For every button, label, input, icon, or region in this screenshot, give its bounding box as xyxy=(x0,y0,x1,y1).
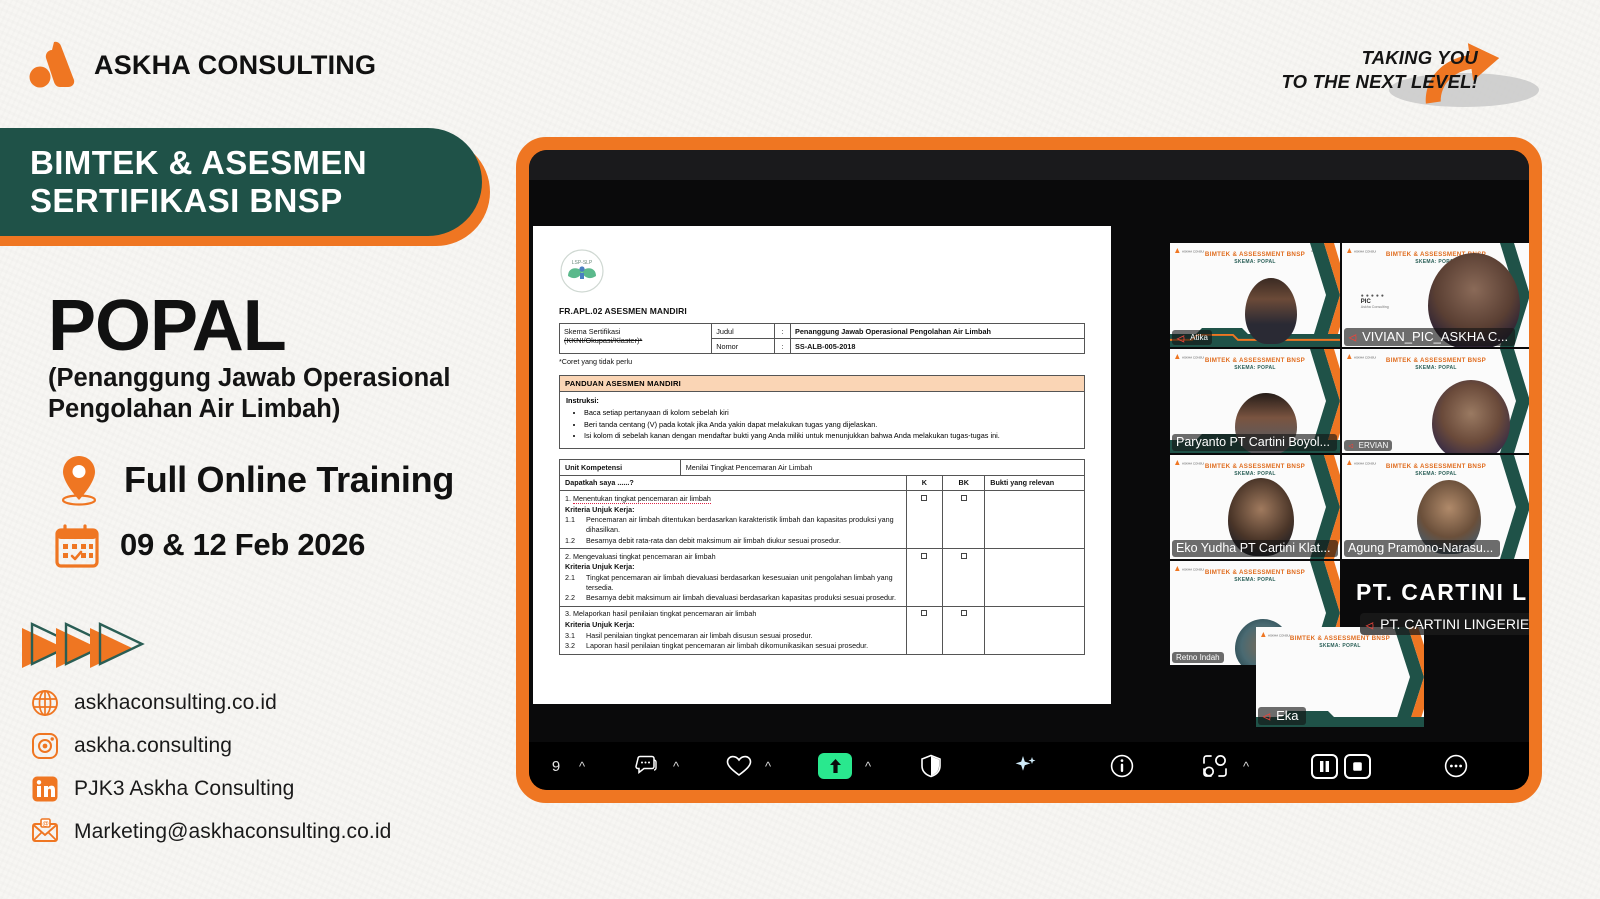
triple-play-arrows-icon xyxy=(18,620,148,678)
slide-chevron-decor xyxy=(1500,455,1529,559)
participant-name-label: Retno Indah xyxy=(1172,652,1224,663)
row-colon: : xyxy=(775,339,791,354)
item-title: Mengevaluasi tingkat pencemaran air limb… xyxy=(573,552,716,561)
panduan-body: Instruksi: Baca setiap pertanyaan di kol… xyxy=(560,392,1084,448)
globe-icon xyxy=(30,688,60,718)
skema-label-line-2: (KKNI/Okupasi/Klaster)* xyxy=(564,336,707,345)
participant-name-label: ⏿ Atika xyxy=(1172,330,1212,345)
participant-tile-ervian[interactable]: ASKHA CONSULTING BIMTEK & ASSESSMENT BNS… xyxy=(1342,349,1529,453)
kuk-label: Kriteria Unjuk Kerja: xyxy=(565,620,901,630)
participant-tile-vivian[interactable]: ASKHA CONSULTING BIMTEK & ASSESSMENT BNS… xyxy=(1342,243,1529,347)
zoom-stage: LSP-SLP FR.APL.02 ASESMEN MANDIRI Skema … xyxy=(529,180,1529,742)
instruksi-label: Instruksi: xyxy=(566,396,1078,406)
brand-header: ASKHA CONSULTING xyxy=(24,36,376,94)
contact-list: askhaconsulting.co.id askha.consulting P… xyxy=(30,686,391,849)
virtual-background: ASKHA CONSULTING BIMTEK & ASSESSMENT BNS… xyxy=(1342,349,1529,453)
checkbox-cell-k[interactable] xyxy=(906,549,943,607)
row-value: Penanggung Jawab Operasional Pengolahan … xyxy=(791,324,1085,339)
criteria-text: Besarnya debit rata-rata dan debit maksi… xyxy=(586,536,841,546)
muted-mic-icon: ⏿ xyxy=(1348,330,1357,343)
criteria-num: 3.1 xyxy=(565,631,581,641)
criteria-text: Pencemaran air limbah ditentukan berdasa… xyxy=(586,515,901,534)
checkbox-cell-bk[interactable] xyxy=(943,606,985,654)
share-screen-icon[interactable] xyxy=(815,742,855,790)
kuk-label: Kriteria Unjuk Kerja: xyxy=(565,562,901,572)
criteria-num: 1.2 xyxy=(565,536,581,546)
participant-tile-agung-pramono[interactable]: ASKHA CONSULTING BIMTEK & ASSESSMENT BNS… xyxy=(1342,455,1529,559)
table-header-row: Dapatkah saya ......? K BK Bukti yang re… xyxy=(560,475,1085,491)
checkbox-bk[interactable] xyxy=(961,553,967,559)
criteria-item: 2.1 Tingkat pencemaran air limbah dieval… xyxy=(565,573,901,592)
muted-mic-icon: ⏿ xyxy=(1348,442,1354,450)
instruksi-list: Baca setiap pertanyaan di kolom sebelah … xyxy=(584,408,1078,441)
meta-label-location: Full Online Training xyxy=(124,459,454,501)
checkbox-k[interactable] xyxy=(921,553,927,559)
breakout-options-chevron-icon[interactable]: ^ xyxy=(1233,742,1259,790)
evidence-cell[interactable] xyxy=(985,549,1085,607)
participant-name-label: ⏿ VIVIAN_PIC_ASKHA C... xyxy=(1344,328,1515,346)
meeting-info-icon[interactable] xyxy=(1105,742,1139,790)
table-row: 1. Menentukan tingkat pencemaran air lim… xyxy=(560,491,1085,549)
meta-label-date: 09 & 12 Feb 2026 xyxy=(120,527,365,563)
chat-options-chevron-icon[interactable]: ^ xyxy=(663,742,689,790)
checkbox-k[interactable] xyxy=(921,495,927,501)
checkbox-cell-bk[interactable] xyxy=(943,549,985,607)
criteria-item: 3.2 Laporan hasil penilaian tingkat penc… xyxy=(565,641,901,651)
item-title: Melaporkan hasil penilaian tingkat pence… xyxy=(573,609,756,618)
linkedin-icon xyxy=(30,774,60,804)
criteria-text: Laporan hasil penilaian tingkat pencemar… xyxy=(586,641,868,651)
criteria-num: 1.1 xyxy=(565,515,581,534)
column-header-bk: BK xyxy=(943,475,985,491)
participant-video xyxy=(1432,380,1510,453)
item-title: Menentukan tingkat pencemaran air limbah xyxy=(573,494,711,504)
shared-document: LSP-SLP FR.APL.02 ASESMEN MANDIRI Skema … xyxy=(533,226,1111,704)
chat-icon[interactable] xyxy=(631,742,663,790)
criteria-item: 1.2 Besarnya debit rata-rata dan debit m… xyxy=(565,536,901,546)
row-label: Nomor xyxy=(712,339,775,354)
participant-tile-eka[interactable]: ASKHA CONSULTING BIMTEK & ASSESSMENT BNS… xyxy=(1256,627,1424,727)
table-row: Unit Kompetensi Menilai Tingkat Pencemar… xyxy=(560,460,1085,476)
list-item: Baca setiap pertanyaan di kolom sebelah … xyxy=(584,408,1078,418)
participant-name-label: ⏿ ERVIAN xyxy=(1344,440,1392,451)
contact-item-website[interactable]: askhaconsulting.co.id xyxy=(30,686,391,720)
page-subtitle-line-1: (Penanggung Jawab Operasional xyxy=(48,363,450,394)
checkbox-bk[interactable] xyxy=(961,495,967,501)
checkbox-k[interactable] xyxy=(921,610,927,616)
competency-cell: 1. Menentukan tingkat pencemaran air lim… xyxy=(560,491,907,549)
contact-label-email: Marketing@askhaconsulting.co.id xyxy=(74,820,391,844)
participant-name-label: Eko Yudha PT Cartini Klat... xyxy=(1172,540,1338,557)
zoom-titlebar xyxy=(529,150,1529,180)
brand-name: ASKHA CONSULTING xyxy=(94,50,376,81)
svg-text:@: @ xyxy=(42,820,49,827)
tagline-text: TAKING YOU TO THE NEXT LEVEL! xyxy=(1282,46,1479,95)
question-header: Dapatkah saya ......? xyxy=(560,475,907,491)
unit-kompetensi-table: Unit Kompetensi Menilai Tingkat Pencemar… xyxy=(559,459,1085,655)
column-header-k: K xyxy=(906,475,943,491)
muted-mic-icon: ⏿ xyxy=(1365,618,1374,631)
panduan-block: PANDUAN ASESMEN MANDIRI Instruksi: Baca … xyxy=(559,375,1085,449)
zoom-window: LSP-SLP FR.APL.02 ASESMEN MANDIRI Skema … xyxy=(529,150,1529,790)
reactions-options-chevron-icon[interactable]: ^ xyxy=(755,742,781,790)
contact-item-linkedin[interactable]: PJK3 Askha Consulting xyxy=(30,772,391,806)
table-row: Skema Sertifikasi (KKNI/Okupasi/Klaster)… xyxy=(560,324,1085,339)
row-colon: : xyxy=(775,324,791,339)
page-subtitle: (Penanggung Jawab Operasional Pengolahan… xyxy=(48,363,450,425)
meta-row-location: Full Online Training xyxy=(52,452,454,508)
more-options-icon[interactable] xyxy=(1439,742,1473,790)
checkbox-bk[interactable] xyxy=(961,610,967,616)
table-row: 3. Melaporkan hasil penilaian tingkat pe… xyxy=(560,606,1085,654)
skema-label-cell: Skema Sertifikasi (KKNI/Okupasi/Klaster)… xyxy=(560,324,712,354)
svg-text:LSP-SLP: LSP-SLP xyxy=(572,260,593,266)
contact-item-email[interactable]: @ Marketing@askhaconsulting.co.id xyxy=(30,815,391,849)
criteria-num: 2.1 xyxy=(565,573,581,592)
evidence-cell[interactable] xyxy=(985,491,1085,549)
criteria-item: 1.1 Pencemaran air limbah ditentukan ber… xyxy=(565,515,901,534)
share-options-chevron-icon[interactable]: ^ xyxy=(855,742,881,790)
page-subtitle-line-2: Pengolahan Air Limbah) xyxy=(48,394,450,425)
participant-tile-atika[interactable]: ASKHA CONSULTING ASKHA BIMTEK & ASSESSME… xyxy=(1170,243,1340,347)
banner-green-panel: BIMTEK & ASESMEN SERTIFIKASI BNSP xyxy=(0,128,482,236)
instagram-icon xyxy=(30,731,60,761)
list-item: Isi kolom di sebelah kanan dengan mendaf… xyxy=(584,431,1078,441)
email-icon: @ xyxy=(30,817,60,847)
competency-cell: 2. Mengevaluasi tingkat pencemaran air l… xyxy=(560,549,907,607)
share-screen-button[interactable] xyxy=(818,753,852,779)
participant-name-label: Paryanto PT Cartini Boyol... xyxy=(1172,434,1337,451)
contact-label-website: askhaconsulting.co.id xyxy=(74,691,277,715)
row-value: SS-ALB-005-2018 xyxy=(791,339,1085,354)
recording-controls xyxy=(1311,742,1371,790)
checkbox-cell-bk[interactable] xyxy=(943,491,985,549)
criteria-num: 2.2 xyxy=(565,593,581,603)
page-title: POPAL xyxy=(48,290,286,362)
banner-line-1: BIMTEK & ASESMEN xyxy=(30,144,482,182)
skema-table: Skema Sertifikasi (KKNI/Okupasi/Klaster)… xyxy=(559,323,1085,354)
stop-recording-icon[interactable] xyxy=(1344,754,1371,779)
askha-a-mark-icon xyxy=(24,36,82,94)
document-footnote: *Coret yang tidak perlu xyxy=(559,357,1085,366)
criteria-item: 3.1 Hasil penilaian tingkat pencemaran a… xyxy=(565,631,901,641)
criteria-text: Hasil penilaian tingkat pencemaran air l… xyxy=(586,631,813,641)
list-item: Beri tanda centang (V) pada kotak jika A… xyxy=(584,420,1078,430)
reactions-heart-icon[interactable] xyxy=(723,742,755,790)
calendar-icon xyxy=(52,520,102,570)
participant-name-label: Agung Pramono-Narasu... xyxy=(1344,540,1500,557)
panduan-header: PANDUAN ASESMEN MANDIRI xyxy=(560,376,1084,392)
zoom-meeting-screenshot-frame: LSP-SLP FR.APL.02 ASESMEN MANDIRI Skema … xyxy=(516,137,1542,803)
muted-mic-icon: ⏿ xyxy=(1176,331,1185,344)
muted-mic-icon: ⏿ xyxy=(1262,709,1271,722)
row-label: Judul xyxy=(712,324,775,339)
breakout-rooms-icon[interactable] xyxy=(1197,742,1233,790)
lsp-certification-logo-icon: LSP-SLP xyxy=(559,248,605,294)
checkbox-cell-k[interactable] xyxy=(906,606,943,654)
participant-video xyxy=(1245,278,1297,344)
participant-tile-eko-yudha[interactable]: ASKHA CONSULTING BIMTEK & ASSESSMENT BNS… xyxy=(1170,455,1340,559)
pic-badge: ●●●●● PIC Askha Consulting xyxy=(1361,293,1389,309)
pause-recording-icon[interactable] xyxy=(1311,754,1338,779)
criteria-text: Besarnya debit maksimum air limbah dieva… xyxy=(586,593,896,603)
mic-options-chevron-icon[interactable]: ^ xyxy=(569,742,595,790)
item-num: 1. xyxy=(565,494,571,503)
criteria-text: Tingkat pencemaran air limbah dievaluasi… xyxy=(586,573,901,592)
participant-name-label: ⏿ Eka xyxy=(1258,707,1306,725)
participant-tile-paryanto[interactable]: ASKHA CONSULTING BIMTEK & ASSESSMENT BNS… xyxy=(1170,349,1340,453)
item-num: 3. xyxy=(565,609,571,618)
meta-row-date: 09 & 12 Feb 2026 xyxy=(52,520,365,570)
item-num: 2. xyxy=(565,552,571,561)
skema-label-line-1: Skema Sertifikasi xyxy=(564,327,707,336)
spotlight-participant-title: PT. CARTINI LIN... xyxy=(1356,579,1529,606)
criteria-item: 2.2 Besarnya debit maksimum air limbah d… xyxy=(565,593,901,603)
unit-label: Unit Kompetensi xyxy=(560,460,681,476)
document-heading: FR.APL.02 ASESMEN MANDIRI xyxy=(559,306,1085,316)
participant-tile-grid: ASKHA CONSULTING ASKHA BIMTEK & ASSESSME… xyxy=(1170,243,1529,713)
contact-item-instagram[interactable]: askha.consulting xyxy=(30,729,391,763)
ai-companion-sparkle-icon[interactable] xyxy=(1009,742,1043,790)
location-pin-icon xyxy=(52,452,106,508)
tagline-badge: TAKING YOU TO THE NEXT LEVEL! xyxy=(1296,28,1566,116)
mic-participant-count[interactable]: 9 xyxy=(543,758,569,775)
contact-label-instagram: askha.consulting xyxy=(74,734,232,758)
table-row: 2. Mengevaluasi tingkat pencemaran air l… xyxy=(560,549,1085,607)
checkbox-cell-k[interactable] xyxy=(906,491,943,549)
event-type-banner: BIMTEK & ASESMEN SERTIFIKASI BNSP xyxy=(0,128,492,246)
kuk-label: Kriteria Unjuk Kerja: xyxy=(565,505,901,515)
competency-cell: 3. Melaporkan hasil penilaian tingkat pe… xyxy=(560,606,907,654)
criteria-num: 3.2 xyxy=(565,641,581,651)
banner-line-2: SERTIFIKASI BNSP xyxy=(30,182,482,220)
unit-value: Menilai Tingkat Pencemaran Air Limbah xyxy=(680,460,1084,476)
evidence-cell[interactable] xyxy=(985,606,1085,654)
security-shield-icon[interactable] xyxy=(915,742,947,790)
column-header-bukti: Bukti yang relevan xyxy=(985,475,1085,491)
spotlight-participant-subtitle: ⏿ PT. CARTINI LINGERIE I... xyxy=(1360,613,1529,635)
contact-label-linkedin: PJK3 Askha Consulting xyxy=(74,777,294,801)
zoom-toolbar: 9 ^ ^ ^ xyxy=(529,742,1529,790)
